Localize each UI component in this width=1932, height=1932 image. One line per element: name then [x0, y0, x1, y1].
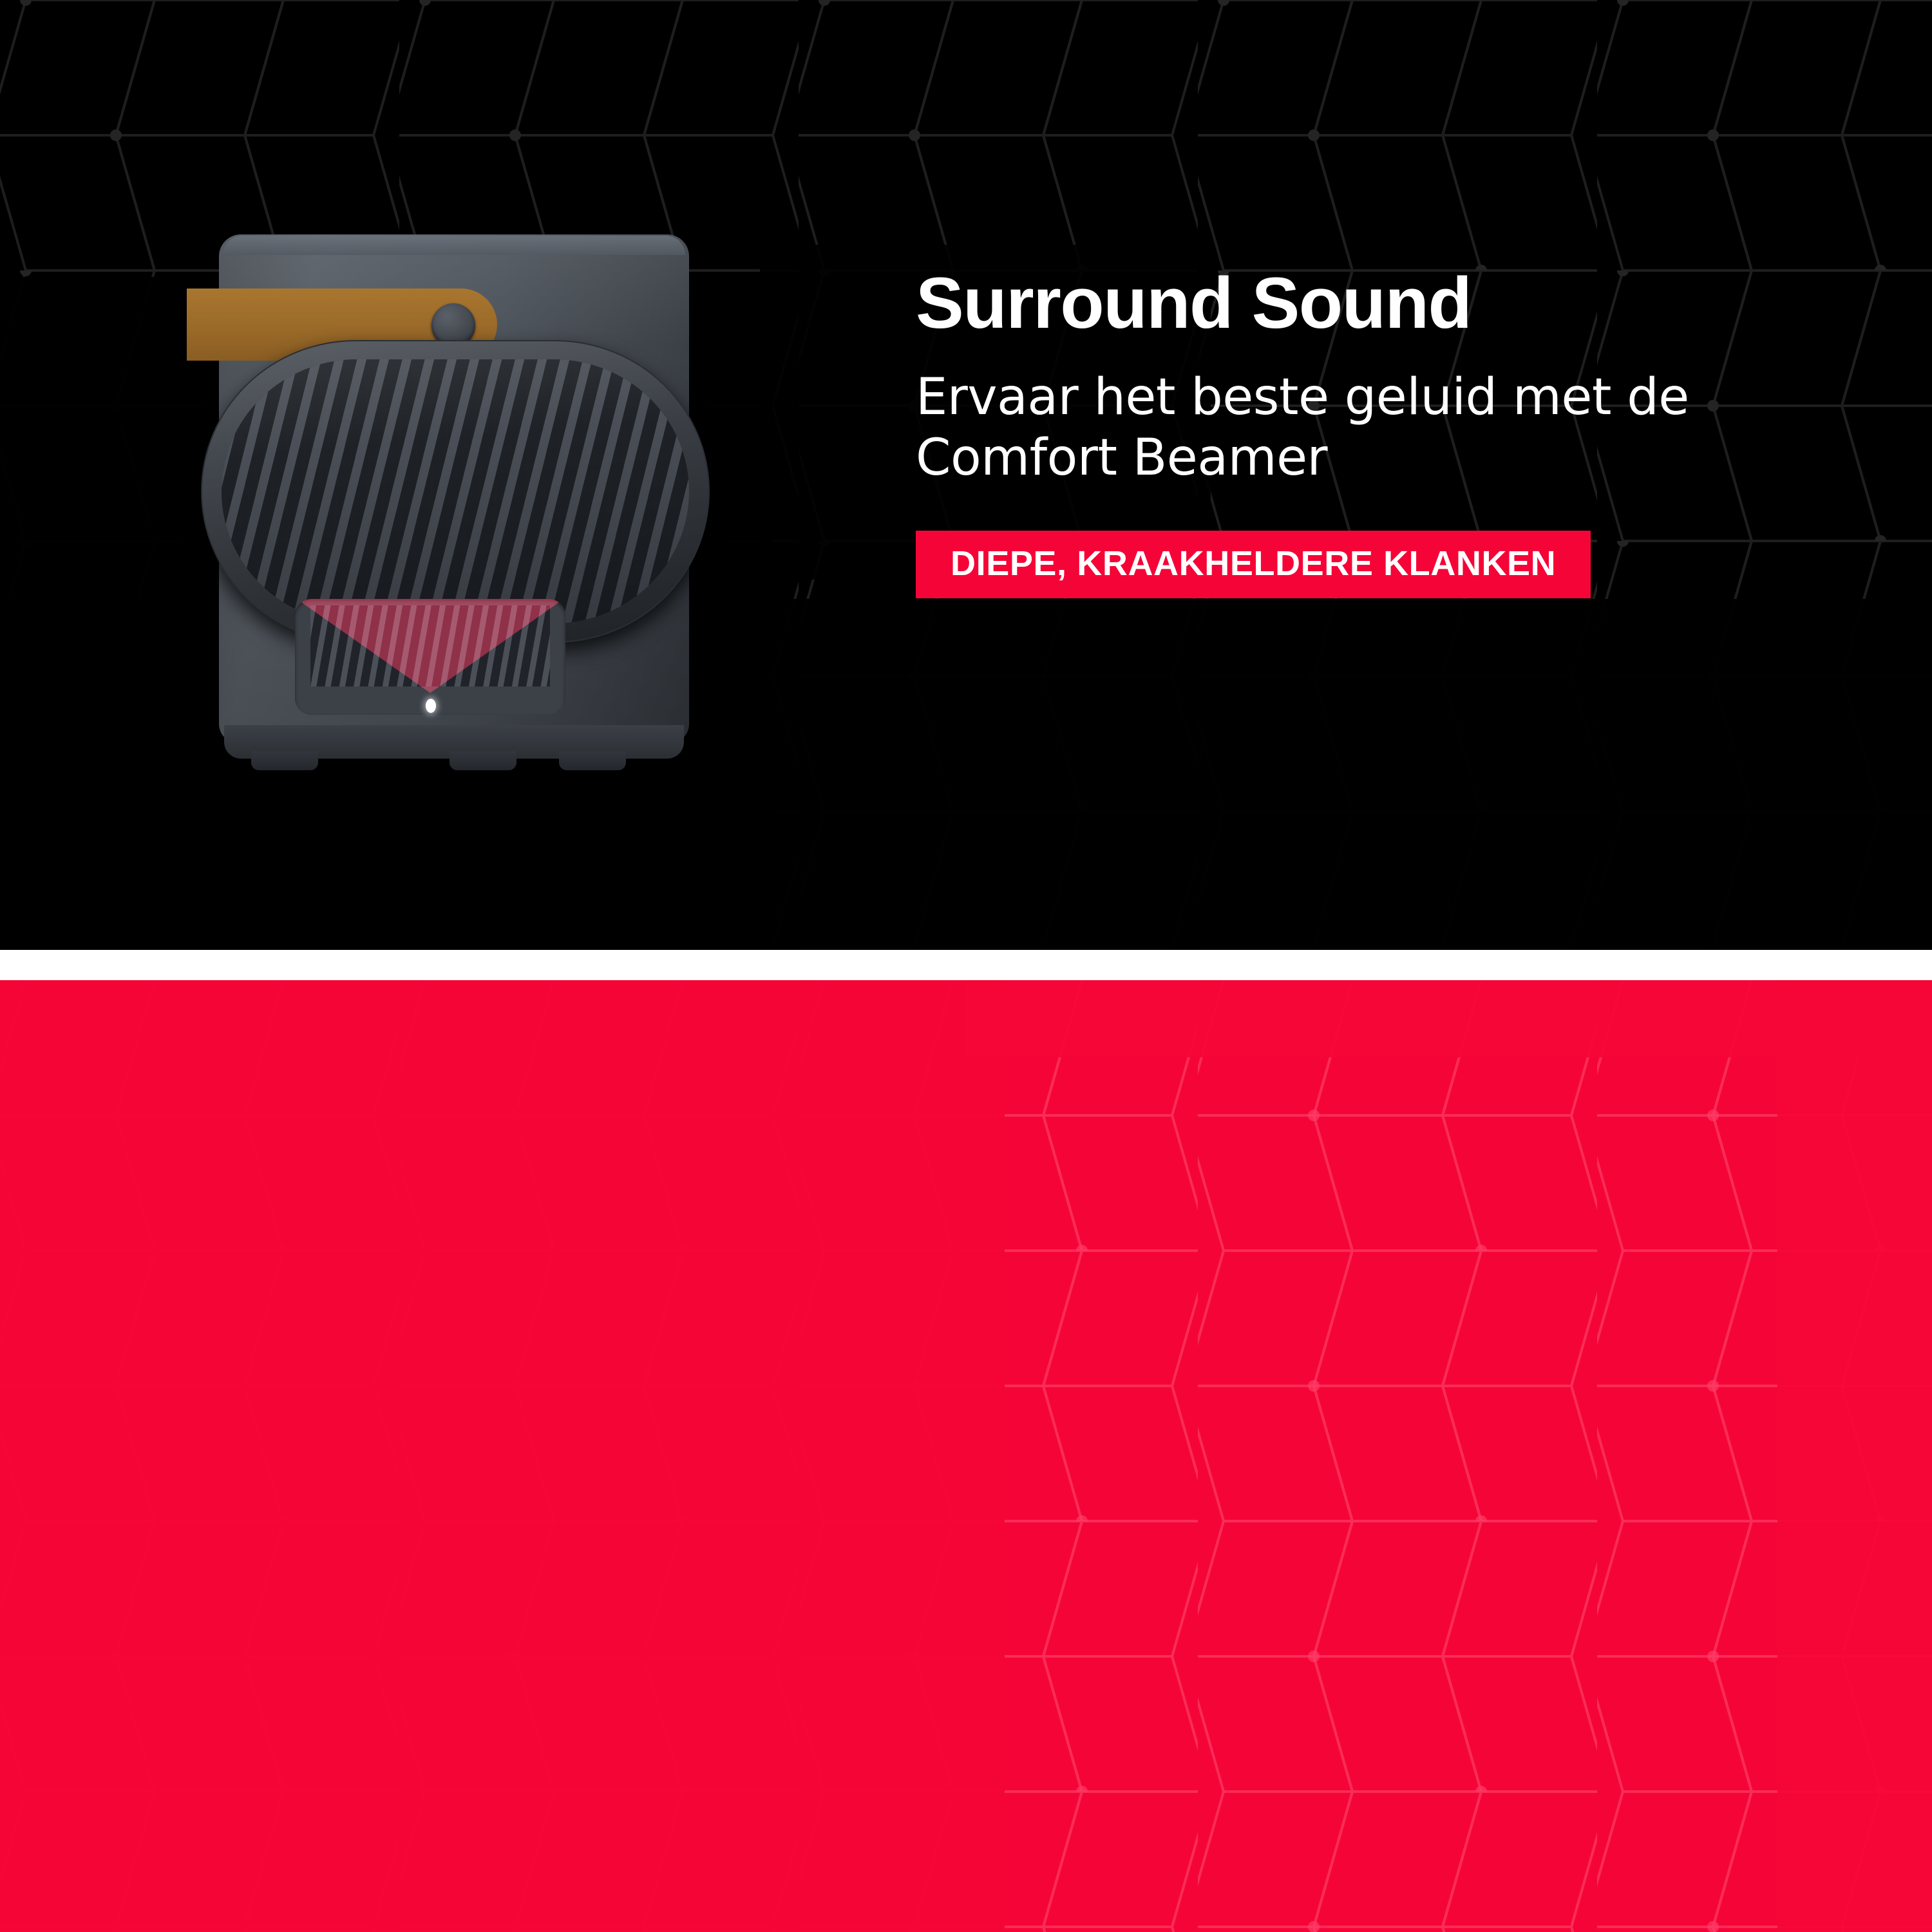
product-image-front: [187, 219, 721, 786]
status-led-icon: [426, 699, 436, 713]
status-badge-top: DIEPE, KRAAKHELDERE KLANKEN: [916, 531, 1591, 598]
panel-blijft-stevig-staan: Blijft stevig staan Vier anti-slip noppe…: [0, 980, 1932, 1932]
panel-surround-sound: Surround Sound Ervaar het beste geluid m…: [0, 0, 1932, 950]
top-subtitle: Ervaar het beste geluid met de Comfort B…: [916, 368, 1772, 488]
speaker-grille-oval: [201, 340, 710, 643]
device-foot: [251, 751, 318, 770]
promo-banner: Surround Sound Ervaar het beste geluid m…: [0, 0, 1932, 1932]
top-copy-block: Surround Sound Ervaar het beste geluid m…: [916, 267, 1772, 598]
lower-vent-panel: [295, 599, 565, 715]
panel-divider: [0, 950, 1932, 980]
chevron-pattern-light: [0, 980, 1932, 1932]
device-top-lip: [223, 236, 685, 255]
device-foot: [559, 751, 626, 770]
grille-gloss: [202, 341, 708, 641]
device-foot: [450, 751, 516, 770]
page-title-surround-sound: Surround Sound: [916, 267, 1772, 339]
